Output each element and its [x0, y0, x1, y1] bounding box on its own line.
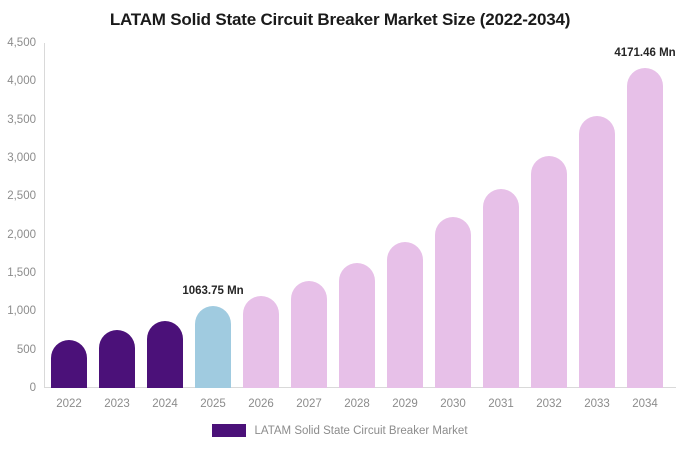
x-tick-label-2028: 2028: [333, 398, 381, 410]
bar-2024[interactable]: [147, 321, 183, 388]
x-tick-label-2030: 2030: [429, 398, 477, 410]
bar-2031[interactable]: [483, 189, 519, 388]
chart-title: LATAM Solid State Circuit Breaker Market…: [0, 10, 680, 30]
bar-2029[interactable]: [387, 242, 423, 388]
bar-2033[interactable]: [579, 116, 615, 388]
y-tick-label: 1,000: [0, 305, 36, 317]
legend-swatch: [212, 424, 246, 437]
x-tick-label-2031: 2031: [477, 398, 525, 410]
x-tick-label-2025: 2025: [189, 398, 237, 410]
chart-legend: LATAM Solid State Circuit Breaker Market: [0, 424, 680, 437]
bar-group[interactable]: [195, 306, 231, 388]
x-tick-label-2026: 2026: [237, 398, 285, 410]
x-tick-label-2029: 2029: [381, 398, 429, 410]
x-tick-label-2032: 2032: [525, 398, 573, 410]
y-tick-label: 4,500: [0, 37, 36, 49]
bar-group[interactable]: [579, 116, 615, 388]
y-tick-label: 4,000: [0, 75, 36, 87]
y-tick-label: 3,000: [0, 152, 36, 164]
x-tick-label-2023: 2023: [93, 398, 141, 410]
legend-label[interactable]: LATAM Solid State Circuit Breaker Market: [254, 425, 467, 437]
x-axis-tick-labels: 2022202320242025202620272028202920302031…: [44, 398, 676, 414]
bar-value-label-2025: 1063.75 Mn: [182, 285, 243, 297]
x-tick-label-2022: 2022: [45, 398, 93, 410]
bar-2028[interactable]: [339, 263, 375, 388]
bar-2032[interactable]: [531, 156, 567, 388]
bar-group[interactable]: [627, 68, 663, 388]
bar-group[interactable]: [291, 281, 327, 388]
bar-2025[interactable]: [195, 306, 231, 388]
bar-group[interactable]: [147, 321, 183, 388]
x-tick-label-2027: 2027: [285, 398, 333, 410]
bar-2027[interactable]: [291, 281, 327, 388]
bar-2022[interactable]: [51, 340, 87, 388]
y-tick-label: 2,000: [0, 229, 36, 241]
bar-value-label-2034: 4171.46 Mn: [614, 47, 675, 59]
bar-2030[interactable]: [435, 217, 471, 388]
bar-2023[interactable]: [99, 330, 135, 388]
bar-group[interactable]: [99, 330, 135, 388]
y-tick-label: 0: [0, 382, 36, 394]
plot-area: 1063.75 Mn4171.46 Mn: [44, 43, 676, 388]
bar-2034[interactable]: [627, 68, 663, 388]
y-tick-label: 1,500: [0, 267, 36, 279]
y-tick-label: 3,500: [0, 114, 36, 126]
bar-group[interactable]: [435, 217, 471, 388]
y-tick-label: 500: [0, 344, 36, 356]
bar-group[interactable]: [483, 189, 519, 388]
x-tick-label-2034: 2034: [621, 398, 669, 410]
x-tick-label-2033: 2033: [573, 398, 621, 410]
bar-group[interactable]: [51, 340, 87, 388]
bar-group[interactable]: [339, 263, 375, 388]
y-tick-label: 2,500: [0, 190, 36, 202]
bar-2026[interactable]: [243, 296, 279, 388]
chart-container: LATAM Solid State Circuit Breaker Market…: [0, 0, 680, 450]
bar-group[interactable]: [531, 156, 567, 388]
bar-group[interactable]: [387, 242, 423, 388]
x-tick-label-2024: 2024: [141, 398, 189, 410]
bars-layer: 1063.75 Mn4171.46 Mn: [44, 43, 676, 388]
bar-group[interactable]: [243, 296, 279, 388]
